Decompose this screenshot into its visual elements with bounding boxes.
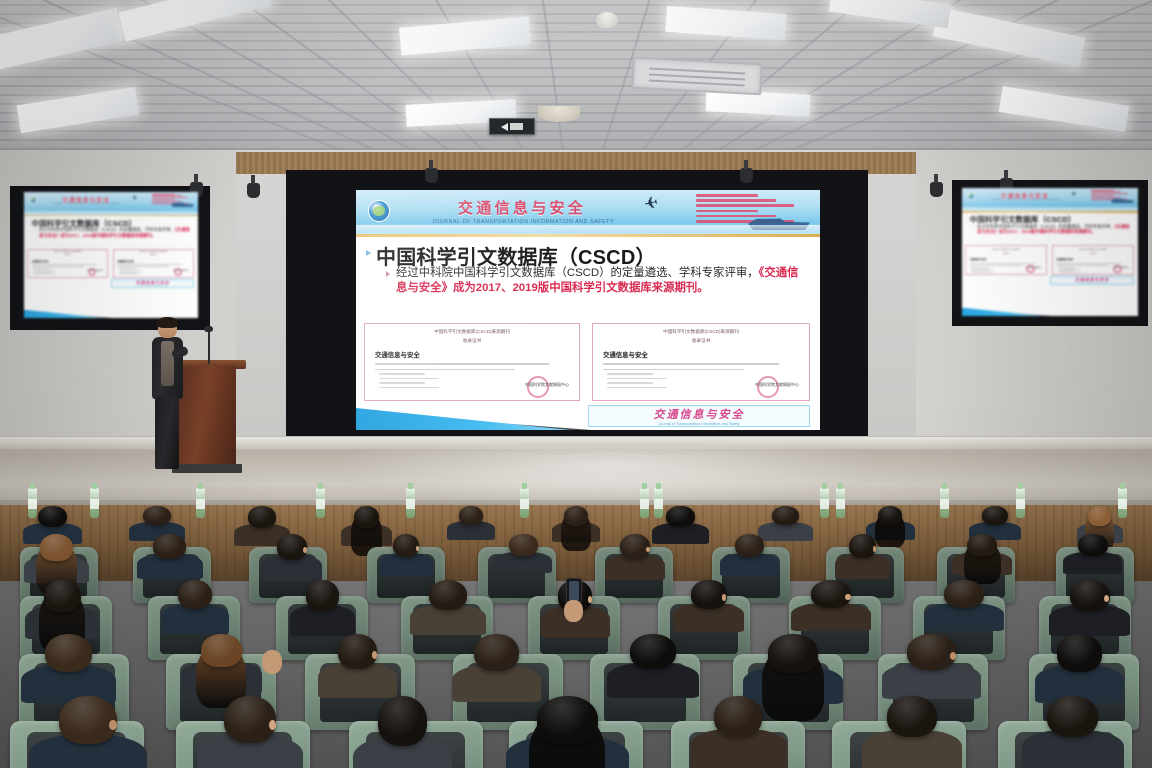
water-bottle (820, 488, 829, 518)
journal-title-en: JOURNAL OF TRANSPORTATION INFORMATION AN… (991, 199, 1060, 201)
audience-head (45, 634, 93, 672)
para-emph-2: 学引文数据库来源期刊。 (1048, 229, 1095, 234)
certificate-meta-line (971, 267, 988, 268)
audience-head (982, 506, 1008, 525)
footer-signature-cn: 交通信息与安全 (654, 406, 745, 422)
slide-body: 中国科学引文数据库（CSCD）经过中科院中国科学引文数据库（CSCD）的定量遴选… (962, 213, 1138, 316)
certificate-header: 中国科学引文数据库(CSCD)来源期刊 (966, 248, 1046, 251)
cscd-certificate-2019: 中国科学引文数据库(CSCD)来源期刊收录证书交通信息与安全中国科学院文献情报中… (113, 249, 195, 278)
certificate-header: 中国科学引文数据库(CSCD)来源期刊 (593, 329, 809, 335)
certificate-journal-name: 交通信息与安全 (1056, 257, 1133, 261)
para-line-2: 科专家评审， (149, 227, 175, 232)
bottle-label (90, 499, 99, 509)
audience-ear (303, 547, 307, 553)
banner-award-line (152, 197, 189, 198)
certificate-text-line (117, 266, 169, 267)
audience-ear (269, 720, 276, 730)
bottle-label (316, 499, 325, 509)
left-side-screen[interactable]: 交通信息与安全JOURNAL OF TRANSPORTATION INFORMA… (24, 192, 198, 318)
audience-head (768, 634, 818, 673)
banner-award-line (152, 194, 175, 195)
ceiling-speaker (596, 12, 618, 28)
audience-head (564, 506, 588, 526)
certificate-meta-line (971, 270, 988, 271)
certificate-issuer: 中国科学院文献情报中心 (87, 270, 104, 272)
certificate-subheader: 收录证书 (114, 254, 194, 256)
certificate-text-line (375, 369, 515, 371)
audience-head (878, 506, 903, 525)
certificate-meta-line (379, 387, 439, 389)
audience-head (944, 580, 984, 608)
airplane-icon: ✈ (1070, 189, 1077, 198)
bottle-label (940, 499, 949, 509)
certificate-subheader: 收录证书 (966, 252, 1046, 255)
water-bottle (1118, 488, 1127, 518)
ac-vent (631, 57, 762, 96)
certificate-meta-line (119, 268, 136, 269)
audience-head (907, 634, 956, 670)
banner-award-line (152, 201, 182, 202)
audience-head (178, 580, 212, 609)
track-light (930, 182, 943, 197)
banner-award-line (696, 204, 794, 207)
certificate-text-line (603, 369, 744, 371)
audience-head (887, 696, 937, 737)
certificate-text-line (970, 265, 1022, 266)
certificate-subheader: 收录证书 (28, 254, 107, 256)
bottle-label (640, 499, 649, 509)
water-bottle (406, 488, 415, 518)
slide-body-paragraph: 经过中科院中国科学引文数据库（CSCD）的定量遴选、学科专家评审，《交通信息与安… (396, 266, 808, 294)
slide-body-paragraph: 经过中科院中国科学引文数据库（CSCD）的定量遴选、学科专家评审，《交通信息与安… (39, 227, 194, 238)
banner-award-line (1091, 195, 1115, 196)
right-side-screen[interactable]: 交通信息与安全JOURNAL OF TRANSPORTATION INFORMA… (962, 188, 1138, 316)
track-light (247, 183, 260, 198)
bullet-triangle-icon (973, 226, 974, 228)
certificate-meta-line (119, 270, 142, 271)
certificate-meta-line (33, 270, 56, 271)
certificate-meta-line (607, 382, 653, 384)
bullet-triangle-icon (386, 271, 390, 277)
audience-head (224, 696, 277, 743)
journal-title-en: JOURNAL OF TRANSPORTATION INFORMATION AN… (53, 203, 121, 205)
banner-award-line (152, 195, 182, 196)
bottle-label (836, 499, 845, 509)
banner-award-line (1091, 193, 1128, 194)
certificate-journal-name: 交通信息与安全 (603, 350, 809, 359)
certificate-text-line (32, 266, 83, 267)
certificate-meta-line (33, 272, 50, 273)
certificate-meta-line (119, 272, 136, 273)
para-line-2: 科专家评审， (690, 267, 758, 279)
certificate-meta-line (971, 272, 994, 273)
banner-award-line (696, 215, 776, 218)
water-bottle (1016, 488, 1025, 518)
bottle-label (820, 499, 829, 509)
audience-hand (564, 600, 583, 622)
presenter-vest (161, 341, 174, 386)
cscd-certificate-2017: 中国科学引文数据库(CSCD)来源期刊收录证书交通信息与安全中国科学院文献情报中… (965, 245, 1047, 275)
certificate-text-line (970, 263, 1035, 264)
banner-award-line (1091, 197, 1121, 198)
wave-graphic (356, 225, 820, 234)
cscd-certificate-2019: 中国科学引文数据库(CSCD)来源期刊收录证书交通信息与安全中国科学院文献情报中… (592, 323, 810, 401)
cscd-certificate-2019: 中国科学引文数据库(CSCD)来源期刊收录证书交通信息与安全中国科学院文献情报中… (1052, 245, 1135, 275)
certificate-subheader: 收录证书 (1053, 252, 1134, 255)
journal-globe-logo (967, 192, 975, 200)
audience-head (44, 580, 81, 612)
presenter-hair (157, 317, 178, 328)
audience-ear (109, 720, 117, 730)
certificate-subheader: 收录证书 (593, 338, 809, 344)
bullet-triangle-icon (35, 229, 36, 231)
audience-ear (646, 547, 650, 553)
certificate-meta-line (379, 373, 425, 375)
water-bottle (836, 488, 845, 518)
certificate-text-line (603, 363, 779, 365)
audience-head (248, 506, 276, 528)
presenter (150, 318, 184, 470)
certificate-meta-line (1058, 272, 1081, 273)
bullet-triangle-icon (366, 250, 371, 256)
slide-footer-signature: 交通信息与安全Journal of Transportation Informa… (588, 405, 810, 427)
audience-head (666, 506, 695, 527)
audience-head (378, 696, 428, 746)
water-bottle (654, 488, 663, 518)
airplane-icon: ✈ (131, 193, 138, 202)
exit-sign (489, 118, 535, 135)
bottle-label (654, 499, 663, 509)
water-bottle (316, 488, 325, 518)
audience-head (1088, 506, 1111, 526)
banner-award-line (696, 210, 758, 213)
certificate-meta-line (971, 269, 994, 270)
audience-head (630, 634, 676, 669)
audience-seating (0, 500, 1152, 768)
bottle-label (520, 499, 529, 509)
certificate-text-line (1056, 265, 1109, 266)
audience-ear (372, 651, 377, 659)
slide-body-paragraph: 经过中科院中国科学引文数据库（CSCD）的定量遴选、学科专家评审，《交通信息与安… (977, 224, 1133, 235)
certificate-meta-line (1058, 269, 1081, 270)
audience-ear (588, 596, 592, 603)
water-bottle (640, 488, 649, 518)
footer-signature-en: Journal of Transportation Information an… (138, 286, 168, 287)
ceiling (0, 0, 1152, 172)
certificate-issuer: 中国科学院文献情报中心 (525, 382, 569, 388)
certificate-meta-line (379, 382, 425, 384)
certificate-meta-line (1058, 270, 1075, 271)
audience-head (620, 534, 650, 559)
cscd-certificate-2017: 中国科学引文数据库(CSCD)来源期刊收录证书交通信息与安全中国科学院文献情报中… (27, 249, 108, 278)
slide-footer-wedge (24, 310, 104, 318)
certificate-issuer: 中国科学院文献情报中心 (755, 382, 799, 388)
track-light (425, 168, 438, 183)
certificate-text-line (117, 264, 182, 265)
certificate-issuer: 中国科学院文献情报中心 (1026, 267, 1043, 269)
bottle-label (1016, 499, 1025, 509)
cscd-certificate-2017: 中国科学引文数据库(CSCD)来源期刊收录证书交通信息与安全中国科学院文献情报中… (364, 323, 580, 401)
audience-hand (262, 650, 282, 674)
audience-ear (873, 546, 877, 551)
certificate-header: 中国科学引文数据库(CSCD)来源期刊 (365, 329, 579, 335)
banner-award-line (696, 199, 776, 202)
bullet-triangle-icon (966, 218, 967, 220)
certificate-subheader: 收录证书 (365, 338, 579, 344)
audience-head (1047, 696, 1098, 737)
microphone-stand[interactable] (208, 330, 210, 364)
journal-globe-logo (368, 200, 390, 222)
audience-head (429, 580, 467, 610)
water-bottle (520, 488, 529, 518)
exit-arrow-icon (501, 123, 508, 131)
journal-title-cn: 交通信息与安全 (458, 197, 586, 218)
audience-head (1078, 534, 1107, 556)
certificate-text-line (1056, 263, 1122, 264)
certificate-meta-line (119, 273, 142, 274)
certificate-issuer: 中国科学院文献情报中心 (173, 270, 190, 272)
certificate-meta-line (33, 268, 50, 269)
slide-journal-header: 交通信息与安全JOURNAL OF TRANSPORTATION INFORMA… (962, 188, 1138, 211)
slide-journal-header: 交通信息与安全JOURNAL OF TRANSPORTATION INFORMA… (24, 192, 198, 215)
audience-head (474, 634, 518, 671)
audience-head (338, 634, 377, 669)
audience-ear (845, 594, 850, 600)
bottle-label (1118, 499, 1127, 509)
water-bottle (28, 488, 37, 518)
audience-head (509, 534, 538, 556)
water-bottle (196, 488, 205, 518)
para-emph-2: 学引文数据库来源期刊。 (583, 282, 708, 294)
para-emph-2: 学引文数据库来源期刊。 (109, 233, 156, 238)
certificate-meta-line (1058, 267, 1075, 268)
certificate-issuer: 中国科学院文献情报中心 (1113, 267, 1130, 269)
airplane-icon: ✈ (642, 193, 660, 216)
banner-award-line (1091, 191, 1121, 192)
audience-head (393, 534, 419, 557)
audience-head (459, 506, 483, 525)
audience-head (537, 696, 598, 744)
bullet-triangle-icon (28, 221, 29, 223)
certificate-journal-name: 交通信息与安全 (117, 259, 193, 263)
audience-head (354, 506, 379, 528)
para-line-1: 经过中科院中国科学引文数据库（CSCD）的定量遴选、学 (396, 267, 690, 279)
journal-globe-logo (29, 196, 37, 204)
audience-head (967, 534, 997, 556)
slide-footer-signature: 交通信息与安全Journal of Transportation Informa… (111, 279, 194, 287)
certificate-meta-line (607, 387, 667, 389)
para-line-1: 经过中科院中国科学引文数据库（CSCD）的定量遴选、学 (39, 227, 149, 232)
audience-ear (416, 546, 419, 551)
audience-head (153, 534, 186, 559)
banner-award-line (696, 194, 758, 197)
footer-signature-en: Journal of Transportation Information an… (658, 422, 739, 426)
podium[interactable] (176, 366, 236, 470)
banner-award-line (152, 199, 175, 200)
slide-footer-wedge (356, 408, 570, 430)
audience-ear (722, 594, 727, 600)
banner-award-line (1091, 190, 1115, 191)
audience-head (1057, 634, 1101, 672)
main-projection-screen[interactable]: 交通信息与安全JOURNAL OF TRANSPORTATION INFORMA… (356, 190, 820, 430)
slide-journal-header: 交通信息与安全JOURNAL OF TRANSPORTATION INFORMA… (356, 190, 820, 234)
bottle-label (406, 499, 415, 509)
slide-body: 中国科学引文数据库（CSCD）经过中科院中国科学引文数据库（CSCD）的定量遴选… (24, 216, 198, 318)
track-light (740, 168, 753, 183)
para-line-1: 经过中科院中国科学引文数据库（CSCD）的定量遴选、学 (977, 224, 1088, 229)
certificate-text-line (375, 363, 550, 365)
audience-head (40, 534, 73, 561)
audience-head (735, 534, 765, 557)
audience-head (143, 506, 171, 525)
certificate-journal-name: 交通信息与安全 (970, 257, 1046, 261)
bottle-label (28, 499, 37, 509)
ceiling-dome-light (538, 106, 580, 122)
audience-head (306, 580, 339, 611)
audience-head (59, 696, 118, 744)
audience-head (714, 696, 762, 737)
audience-ear (950, 652, 956, 660)
certificate-header: 中国科学引文数据库(CSCD)来源期刊 (1053, 248, 1134, 251)
presenter-legs (155, 397, 179, 469)
certificate-journal-name: 交通信息与安全 (32, 259, 107, 263)
slide-footer-signature: 交通信息与安全Journal of Transportation Informa… (1050, 276, 1134, 284)
slide-footer-wedge (962, 308, 1043, 316)
audience-head (201, 634, 241, 667)
bottle-label (196, 499, 205, 509)
certificate-meta-line (33, 273, 56, 274)
certificate-text-line (32, 264, 96, 265)
microphone-head[interactable] (204, 326, 213, 332)
exit-figure-icon (510, 123, 523, 130)
para-line-2: 科专家评审， (1089, 224, 1115, 229)
audience-head (772, 506, 800, 525)
ceiling-perspective-line (538, 0, 576, 172)
certificate-meta-line (607, 378, 667, 380)
footer-signature-en: Journal of Transportation Information an… (1077, 283, 1108, 284)
certificate-journal-name: 交通信息与安全 (375, 350, 579, 359)
certificate-meta-line (607, 373, 653, 375)
water-bottle (940, 488, 949, 518)
slide-body: 中国科学引文数据库（CSCD）经过中科院中国科学引文数据库（CSCD）的定量遴选… (356, 237, 820, 430)
audience-head (38, 506, 68, 527)
certificate-meta-line (379, 378, 439, 380)
water-bottle (90, 488, 99, 518)
auditorium-scene: 交通信息与安全JOURNAL OF TRANSPORTATION INFORMA… (0, 0, 1152, 768)
